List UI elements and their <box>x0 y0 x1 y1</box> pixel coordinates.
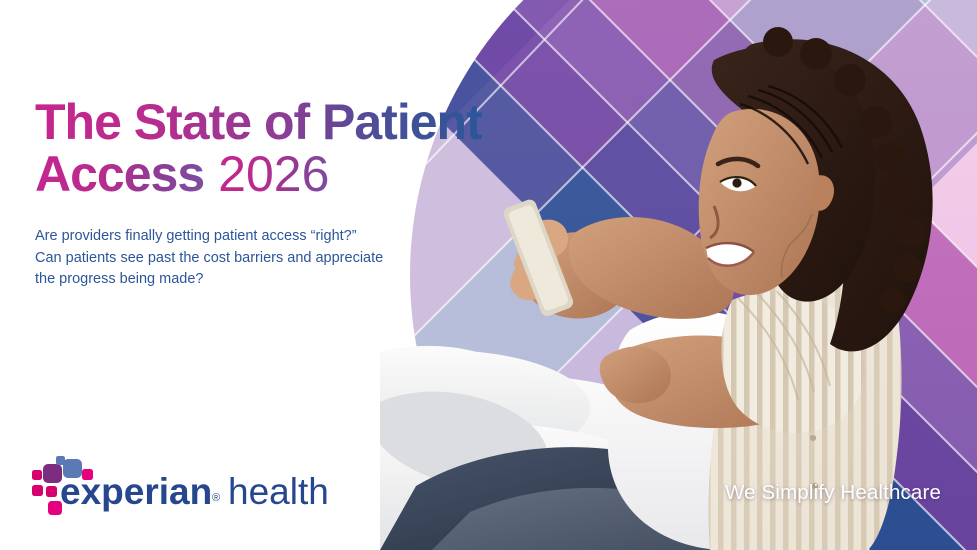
subtitle: Are providers finally getting patient ac… <box>35 226 383 291</box>
title-line-2-bold: Access <box>35 146 204 202</box>
subtitle-line-2: Can patients see past the cost barriers … <box>35 248 383 270</box>
subtitle-line-1: Are providers finally getting patient ac… <box>35 226 383 248</box>
title-line-1: The State of Patient <box>35 96 482 148</box>
experian-health-logo: experian ® health <box>32 455 332 517</box>
hero-photo-woman-with-phone <box>380 0 977 550</box>
logo-registered-mark: ® <box>212 492 220 504</box>
subtitle-line-3: the progress being made? <box>35 269 383 291</box>
page-title: The State of Patient Access2026 <box>35 96 482 200</box>
logo-wordmark-experian: experian <box>60 471 212 512</box>
title-year: 2026 <box>218 146 329 202</box>
presentation-slide: The State of Patient Access2026 Are prov… <box>0 0 977 550</box>
logo-wordmark-health: health <box>228 471 329 512</box>
tagline: We Simplify Healthcare <box>725 481 941 505</box>
